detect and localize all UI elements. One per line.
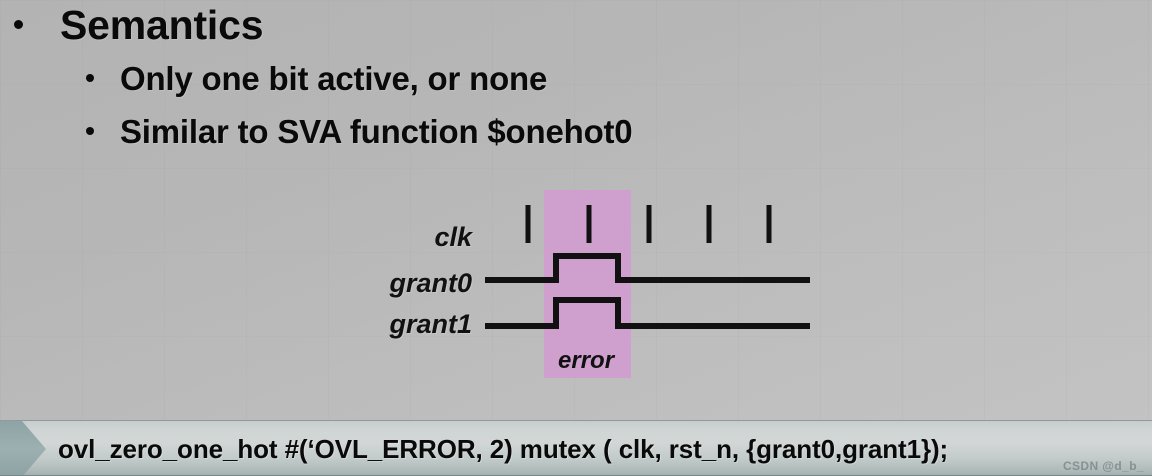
signal-label-grant0: grant0: [389, 268, 472, 299]
slide-canvas: Semantics Only one bit active, or none S…: [0, 0, 1152, 476]
bullet-dot-icon: [86, 74, 94, 82]
clock-tick-group: [528, 205, 769, 243]
bullet-label-level2-0: Only one bit active, or none: [120, 60, 547, 98]
bullet-item-only-one-bit: Only one bit active, or none: [86, 60, 547, 98]
signal-trace-grant1: [485, 300, 810, 326]
code-banner: ovl_zero_one_hot #(‘OVL_ERROR, 2) mutex …: [0, 420, 1152, 476]
signal-label-clk: clk: [434, 222, 472, 253]
signal-trace-grant0: [485, 256, 810, 280]
signal-label-grant1: grant1: [389, 309, 472, 340]
code-banner-text: ovl_zero_one_hot #(‘OVL_ERROR, 2) mutex …: [58, 421, 948, 476]
bullet-label-level1: Semantics: [60, 2, 263, 49]
bullet-item-similar-to-sva: Similar to SVA function $onehot0: [86, 113, 632, 151]
bullet-label-level2-1: Similar to SVA function $onehot0: [120, 113, 632, 151]
watermark-label: CSDN @d_b_: [1063, 459, 1144, 473]
bullet-item-semantics: Semantics: [14, 2, 263, 49]
bullet-dot-icon: [14, 20, 23, 29]
bullet-dot-icon: [86, 127, 94, 135]
error-annotation-label: error: [558, 347, 614, 375]
chevron-right-icon: [0, 421, 46, 476]
